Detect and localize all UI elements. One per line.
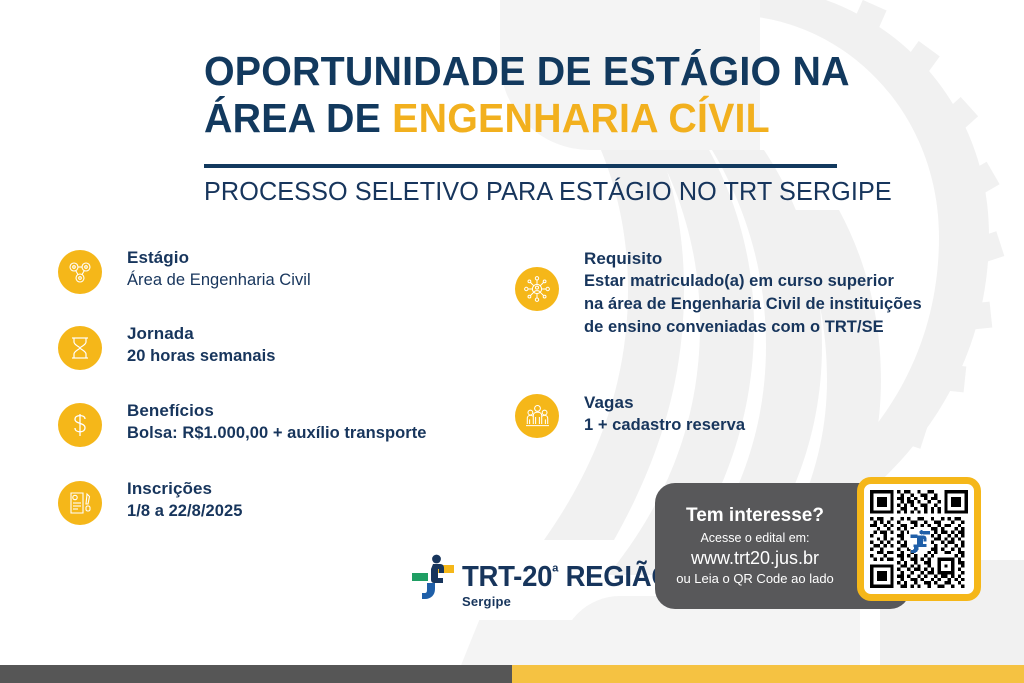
trt-runner-icon [412,552,458,600]
trt-logo-text: TRT-20ª REGIÃO Sergipe [462,552,684,609]
poster-root: OPORTUNIDADE DE ESTÁGIO NA ÁREA DE ENGEN… [0,0,1024,683]
info-text-jornada: Jornada 20 horas semanais [127,322,276,368]
network-hub-person-icon [515,267,559,311]
info-row-beneficios: Benefícios Bolsa: R$1.000,00 + auxílio t… [58,399,528,447]
headline-divider [204,164,837,168]
headline-line-1: OPORTUNIDADE DE ESTÁGIO NA [204,48,818,95]
info-text-requisito: Requisito Estar matriculado(a) em curso … [584,247,922,339]
info-text-vagas: Vagas 1 + cadastro reserva [584,391,745,437]
info-desc-vagas: 1 + cadastro reserva [584,414,745,437]
cta-footer: ou Leia o QR Code ao lado [676,570,834,588]
info-title-requisito: Requisito [584,248,922,270]
info-title-inscricoes: Inscrições [127,478,242,500]
trt-logo-main: TRT-20ª REGIÃO [462,557,673,592]
headline-line-2: ÁREA DE ENGENHARIA CÍVIL [204,95,818,142]
people-group-icon [515,394,559,438]
document-pen-icon [58,481,102,525]
info-desc-requisito-line-3: de ensino conveniadas com o TRT/SE [584,316,922,339]
info-title-jornada: Jornada [127,323,276,345]
info-row-requisito: Requisito Estar matriculado(a) em curso … [515,247,995,339]
info-row-vagas: Vagas 1 + cadastro reserva [515,391,995,438]
left-info-column: Estágio Área de Engenharia Civil Jornada… [58,246,528,555]
info-desc-beneficios: Bolsa: R$1.000,00 + auxílio transporte [127,422,426,445]
info-desc-estagio: Área de Engenharia Civil [127,269,311,292]
headline-line-2-prefix: ÁREA DE [204,95,392,141]
info-title-vagas: Vagas [584,392,745,414]
cta-subheading: Acesse o edital em: [700,530,809,547]
info-desc-inscricoes: 1/8 a 22/8/2025 [127,500,242,523]
trt-logo-sub: Sergipe [462,594,684,609]
info-text-estagio: Estágio Área de Engenharia Civil [127,246,311,292]
cta-url[interactable]: www.trt20.jus.br [691,547,819,570]
info-row-jornada: Jornada 20 horas semanais [58,322,528,370]
info-row-inscricoes: Inscrições 1/8 a 22/8/2025 [58,477,528,525]
info-text-beneficios: Benefícios Bolsa: R$1.000,00 + auxílio t… [127,399,426,445]
qr-code-matrix [870,490,968,588]
right-info-column: Requisito Estar matriculado(a) em curso … [515,247,995,468]
info-desc-requisito-line-2: na área de Engenharia Civil de instituiç… [584,293,922,316]
trt-logo: TRT-20ª REGIÃO Sergipe [412,552,684,609]
info-title-estagio: Estágio [127,247,311,269]
info-desc-requisito-line-1: Estar matriculado(a) em curso superior [584,270,922,293]
qr-code-icon[interactable] [857,477,981,601]
info-text-inscricoes: Inscrições 1/8 a 22/8/2025 [127,477,242,523]
info-title-beneficios: Benefícios [127,400,426,422]
info-desc-jornada: 20 horas semanais [127,345,276,368]
headline-line-2-accent: ENGENHARIA CÍVIL [392,95,770,141]
trt-logo-main-text: TRT-20 [462,561,552,593]
footer-bar-yellow [512,665,1024,683]
subheadline: PROCESSO SELETIVO PARA ESTÁGIO NO TRT SE… [204,176,892,207]
cta-heading: Tem interesse? [686,504,824,527]
cta-content: Tem interesse? Acesse o edital em: www.t… [655,483,855,609]
headline: OPORTUNIDADE DE ESTÁGIO NA ÁREA DE ENGEN… [204,48,844,142]
hourglass-icon [58,326,102,370]
info-row-estagio: Estágio Área de Engenharia Civil [58,246,528,294]
network-nodes-icon [58,250,102,294]
footer-bar-gray [0,665,512,683]
dollar-sign-icon [58,403,102,447]
